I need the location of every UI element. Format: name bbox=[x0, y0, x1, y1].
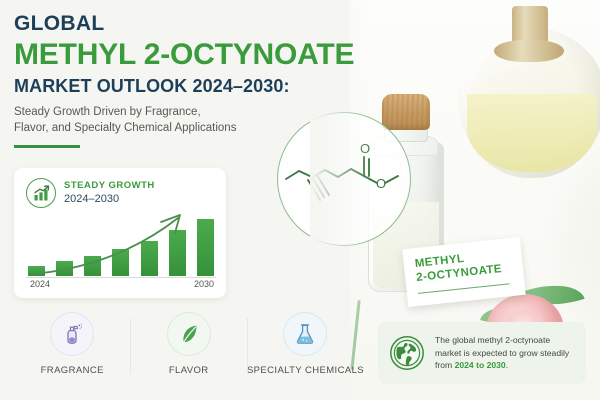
leaf-icon bbox=[167, 312, 211, 356]
header-divider bbox=[14, 145, 80, 148]
chart-baseline bbox=[26, 277, 216, 278]
bar-series bbox=[28, 214, 214, 276]
callout-text-part-b: . bbox=[506, 360, 508, 370]
eyebrow-text: GLOBAL bbox=[14, 12, 354, 36]
chart-tick-end: 2030 bbox=[194, 279, 214, 289]
bar-2028 bbox=[141, 241, 158, 276]
molecule-atom-label-ester-o: O bbox=[376, 176, 386, 191]
bar-2027 bbox=[112, 249, 129, 276]
category-label-fragrance: FRAGRANCE bbox=[41, 365, 104, 376]
perfume-liquid bbox=[467, 94, 597, 172]
page-subtitle: MARKET OUTLOOK 2024–2030: bbox=[14, 75, 354, 97]
globe-icon bbox=[388, 334, 426, 372]
bottle-label-underline bbox=[418, 283, 510, 294]
chart-tick-start: 2024 bbox=[30, 279, 50, 289]
category-specialty-chemicals[interactable]: SPECIALTY CHEMICALS bbox=[247, 312, 364, 390]
bar-2024 bbox=[28, 266, 45, 276]
category-fragrance[interactable]: FRAGRANCE bbox=[14, 312, 130, 390]
category-label-specialty-chemicals: SPECIALTY CHEMICALS bbox=[247, 365, 364, 376]
chart-badge-title: STEADY GROWTH bbox=[64, 180, 155, 191]
callout-highlight-years: 2024 to 2030 bbox=[455, 360, 506, 370]
flask-icon bbox=[283, 312, 327, 356]
infographic-canvas: O O METHYL 2-OCTYNOATE GLOBAL METHYL 2-O… bbox=[0, 0, 600, 400]
growth-chart-icon bbox=[26, 178, 56, 208]
bottle-label-card: METHYL 2-OCTYNOATE bbox=[402, 237, 525, 307]
perfume-bottle-collar bbox=[494, 40, 564, 62]
bar-2029 bbox=[169, 230, 186, 276]
chart-badge: STEADY GROWTH 2024–2030 bbox=[26, 178, 155, 208]
chart-badge-period: 2024–2030 bbox=[64, 192, 155, 206]
growth-chart-card: STEADY GROWTH 2024–2030 2024 2030 bbox=[14, 168, 226, 298]
bar-2025 bbox=[56, 261, 73, 276]
callout-text: The global methyl 2-octynoate market is … bbox=[435, 334, 576, 372]
category-label-flavor: FLAVOR bbox=[169, 365, 209, 376]
header-block: GLOBAL METHYL 2-OCTYNOATE MARKET OUTLOOK… bbox=[14, 12, 354, 148]
perfume-bottle-icon bbox=[50, 312, 94, 356]
tagline-line-1: Steady Growth Driven by Fragrance, bbox=[14, 104, 354, 120]
page-title: METHYL 2-OCTYNOATE bbox=[14, 38, 354, 72]
category-row: FRAGRANCE FLAVOR SPECIALT bbox=[14, 312, 364, 390]
market-summary-callout: The global methyl 2-octynoate market is … bbox=[378, 322, 586, 384]
tagline-line-2: Flavor, and Specialty Chemical Applicati… bbox=[14, 120, 354, 136]
bar-2030 bbox=[197, 219, 214, 276]
category-flavor[interactable]: FLAVOR bbox=[130, 312, 246, 390]
bar-2026 bbox=[84, 256, 101, 276]
bar-chart-plot bbox=[28, 214, 214, 276]
